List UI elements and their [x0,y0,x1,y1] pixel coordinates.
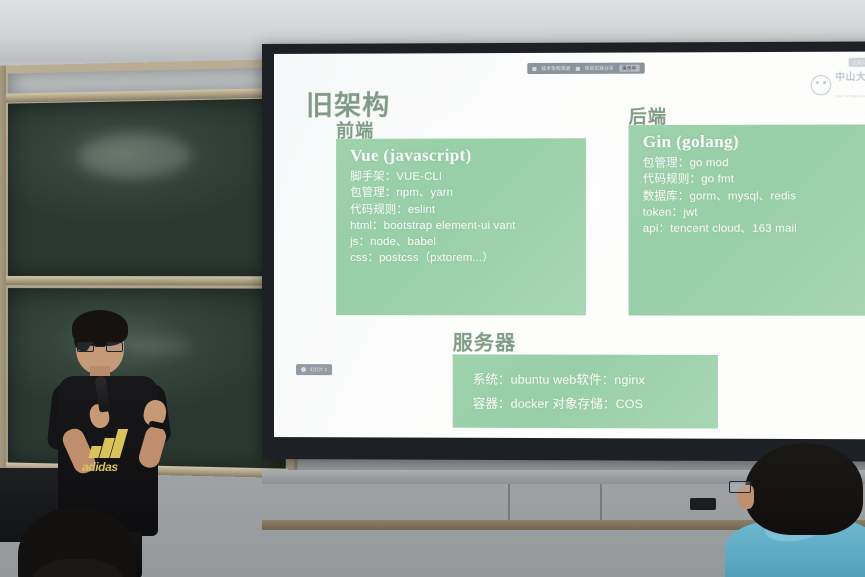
chalkboard-rail-middle [6,276,288,286]
glasses-lens-right [106,342,123,352]
lecture-photo-scene: 技术架构演进 项目实践分享 演示中 主讲人 简历 中山大学 SUN YAT-SE… [0,0,865,577]
university-name-en: SUN YAT-SEN UNIVERSITY [835,94,865,98]
projected-slide: 技术架构演进 项目实践分享 演示中 主讲人 简历 中山大学 SUN YAT-SE… [274,52,865,440]
toolbar-square-icon [576,66,580,70]
card-frontend-line: 包管理：npm、yarn [350,185,574,202]
audience-hair [745,443,863,535]
card-server-line: 系统：ubuntu web软件：nginx [473,367,706,392]
watermark-tab: 主讲人 简历 [848,58,865,67]
section-heading-backend: 后端 [629,103,668,129]
card-backend-line: 代码规则：go fmt [643,171,865,188]
card-backend-line: 数据库：gorm、mysql、redis [643,188,865,205]
card-backend-line: token：jwt [643,204,865,221]
card-frontend-line: 代码规则：eslint [350,201,574,218]
card-frontend-line: 脚手架：VUE-CLI [350,168,574,185]
wall-seam [508,484,510,524]
section-heading-server: 服务器 [453,326,517,355]
glasses-lens-left [77,342,94,352]
adidas-logo-icon: adidas [80,426,136,474]
audience-member-right [721,437,865,577]
toolbar-status-pill: 演示中 [619,65,640,72]
card-backend: Gin (golang) 包管理：go mod 代码规则：go fmt 数据库：… [629,124,865,315]
audience-glasses-icon [729,481,751,493]
card-frontend-line: css：postcss（pxtorem...） [350,250,574,266]
card-frontend-title: Vue (javascript) [350,145,574,166]
card-frontend-line: js：node、babel [350,234,574,250]
chip-dot-icon [301,367,306,372]
wall-seam [600,484,602,524]
slide-page-chip[interactable]: 幻灯片 3 [296,364,332,375]
section-heading-frontend: 前端 [336,117,374,143]
toolbar-item-2[interactable]: 项目实践分享 [585,65,614,71]
university-name-cn: 中山大学 [835,73,865,83]
card-backend-line: 包管理：go mod [643,155,865,172]
logo-wordmark: adidas [82,460,118,474]
university-seal-icon [811,75,831,95]
chalkboard-upper-panel [8,98,286,276]
slide-top-toolbar[interactable]: 技术架构演进 项目实践分享 演示中 [527,63,644,74]
watermark-text: 中山大学 SUN YAT-SEN UNIVERSITY [835,68,865,102]
projection-screen: 技术架构演进 项目实践分享 演示中 主讲人 简历 中山大学 SUN YAT-SE… [262,41,865,461]
presenter-hair [72,310,128,346]
card-frontend-line: html：bootstrap element-ui vant [350,218,574,234]
chalk-smudge [79,133,192,179]
glasses-bridge [95,346,105,347]
wall-mounted-box [690,498,716,510]
toolbar-item-1[interactable]: 技术架构演进 [541,65,570,71]
university-watermark: 主讲人 简历 中山大学 SUN YAT-SEN UNIVERSITY [811,68,865,102]
card-backend-line: api：tencent cloud、163 mail [643,221,865,238]
card-server-line: 容器：docker 对象存储：COS [473,392,706,417]
card-backend-title: Gin (golang) [643,132,865,153]
chip-label: 幻灯片 3 [310,367,327,373]
card-frontend: Vue (javascript) 脚手架：VUE-CLI 包管理：npm、yar… [336,138,586,315]
card-server: 系统：ubuntu web软件：nginx 容器：docker 对象存储：COS [453,354,718,428]
toolbar-square-icon [532,66,536,70]
presenter-glasses-icon [77,342,123,352]
